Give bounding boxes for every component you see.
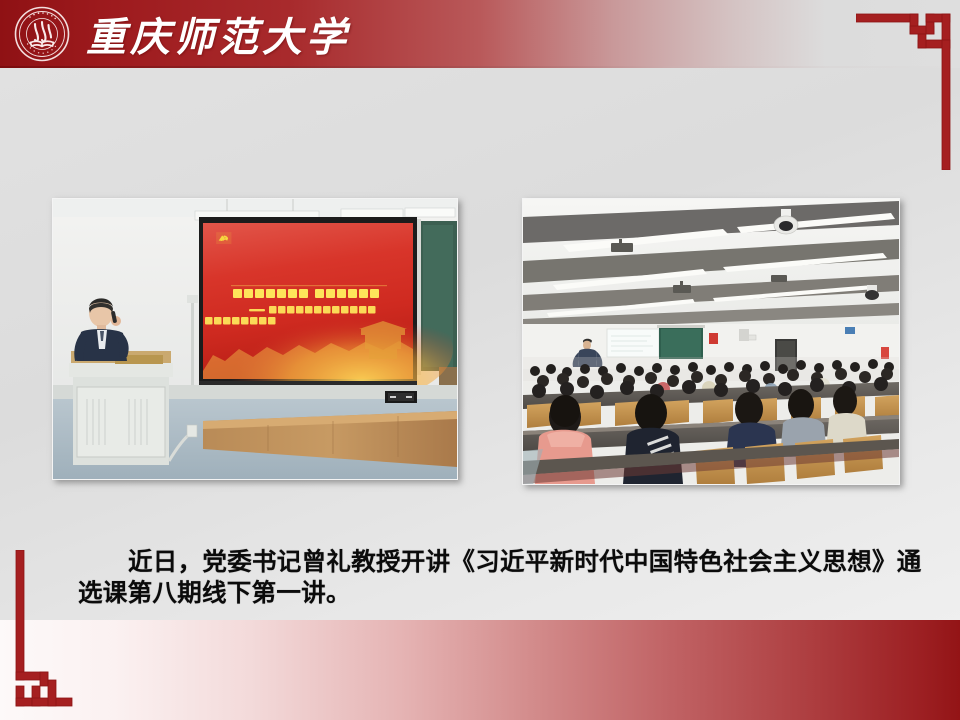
chinese-meander-corner-top-right-icon [856, 8, 956, 170]
footer-banner [0, 620, 960, 720]
lecture-photo [52, 198, 458, 480]
slide-caption: 近日，党委书记曾礼教授开讲《习近平新时代中国特色社会主义思想》通选课第八期线下第… [78, 546, 940, 608]
audience-photo [522, 198, 900, 485]
university-seal-icon [14, 6, 70, 62]
header-banner: 重庆师范大学 [0, 0, 960, 68]
presentation-slide: 重庆师范大学 [0, 0, 960, 720]
university-name: 重庆师范大学 [86, 4, 350, 64]
chinese-meander-corner-bottom-left-icon [10, 550, 110, 712]
